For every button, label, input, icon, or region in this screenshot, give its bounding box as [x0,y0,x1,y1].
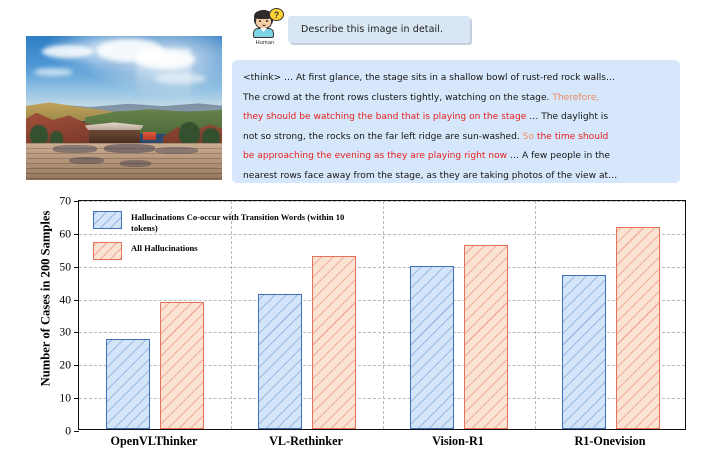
response-text-orange: Therefore, [552,93,599,103]
response-text-normal: The crowd at the front rows clusters tig… [243,93,552,103]
plot-area: Hallucinations Co-occur with Transition … [78,200,686,430]
y-gridline [79,234,685,235]
user-prompt-text: Describe this image in detail. [301,24,443,35]
y-tick-mark [74,201,79,202]
response-text-red: the time should [534,132,608,142]
bar-r1-onevision-series2 [616,227,660,429]
response-text-normal: nearest rows face away from the stage, a… [243,171,617,181]
stage-screen [143,132,157,141]
response-text-orange: So [523,132,534,142]
x-gridline [535,201,536,429]
response-text-normal: … A few people in the [507,151,610,161]
y-tick-label: 40 [37,293,71,306]
y-tick-label: 60 [37,227,71,240]
response-text-red: they should be watching the band that is… [243,112,526,122]
avatar-label: Human [247,40,283,46]
model-response-box: <think> … At first glance, the stage sit… [232,60,680,183]
bar-vision-r1-series1 [410,266,454,429]
response-line: The crowd at the front rows clusters tig… [243,89,669,109]
y-tick-mark [74,332,79,333]
question-mark-glyph: ? [269,8,284,21]
y-tick-mark [74,365,79,366]
bar-openvlthinker-series2 [160,302,204,429]
crowd-cluster-2 [104,144,155,153]
y-tick-mark [74,267,79,268]
human-avatar-icon: ? [250,9,280,39]
y-tick-label: 50 [37,260,71,273]
x-tick-label: VL-Rethinker [269,434,343,449]
x-tick-label: OpenVLThinker [111,434,198,449]
bar-vision-r1-series2 [464,245,508,429]
response-line: nearest rows face away from the stage, a… [243,167,669,187]
crowd-cluster-4 [69,157,104,164]
response-line: they should be watching the band that is… [243,108,669,128]
y-tick-label: 70 [37,195,71,208]
y-tick-mark [74,300,79,301]
response-text-red: be approaching the evening as they are p… [243,151,507,161]
y-tick-label: 0 [37,425,71,438]
human-speaker-block: ? Human [247,9,283,46]
legend-entry-transition: Hallucinations Co-occur with Transition … [93,211,353,233]
y-gridline [79,267,685,268]
bar-vl-rethinker-series2 [312,256,356,429]
x-tick-label: R1-Onevision [574,434,645,449]
figure-root: ? Human Describe this image in detail. <… [0,0,703,473]
crowd-cluster-3 [155,147,198,154]
y-gridline [79,201,685,202]
y-tick-label: 10 [37,392,71,405]
response-text-normal: not so strong, the rocks on the far left… [243,132,523,142]
x-tick-label: Vision-R1 [432,434,484,449]
legend-swatch-blue [93,211,122,229]
legend-label-orange: All Hallucinations [131,242,198,254]
photo-canvas [26,36,222,180]
red-rocks-amphitheatre-photo [26,36,222,180]
bar-r1-onevision-series1 [562,275,606,429]
x-gridline [383,201,384,429]
y-tick-label: 20 [37,359,71,372]
bar-openvlthinker-series1 [106,339,150,429]
crowd-cluster-5 [120,160,151,167]
response-text-normal: <think> … At first glance, the stage sit… [243,73,615,83]
cloud-5 [155,73,206,83]
y-tick-mark [74,398,79,399]
x-gridline [231,201,232,429]
hallucination-bar-chart: Number of Cases in 200 Samples Hallucina… [16,196,688,458]
crowd-cluster-1 [53,145,96,152]
legend-label-blue: Hallucinations Co-occur with Transition … [131,211,353,233]
y-tick-label: 30 [37,326,71,339]
user-prompt-bubble: Describe this image in detail. [288,16,470,43]
response-line: <think> … At first glance, the stage sit… [243,69,669,89]
cloud-3 [136,50,195,69]
response-text-normal: … The daylight is [526,112,608,122]
legend-swatch-orange [93,242,122,260]
y-tick-mark [74,431,79,432]
y-tick-mark [74,234,79,235]
cloud-1 [42,45,93,58]
response-line: not so strong, the rocks on the far left… [243,128,669,148]
response-line: be approaching the evening as they are p… [243,147,669,167]
bar-vl-rethinker-series1 [258,294,302,429]
